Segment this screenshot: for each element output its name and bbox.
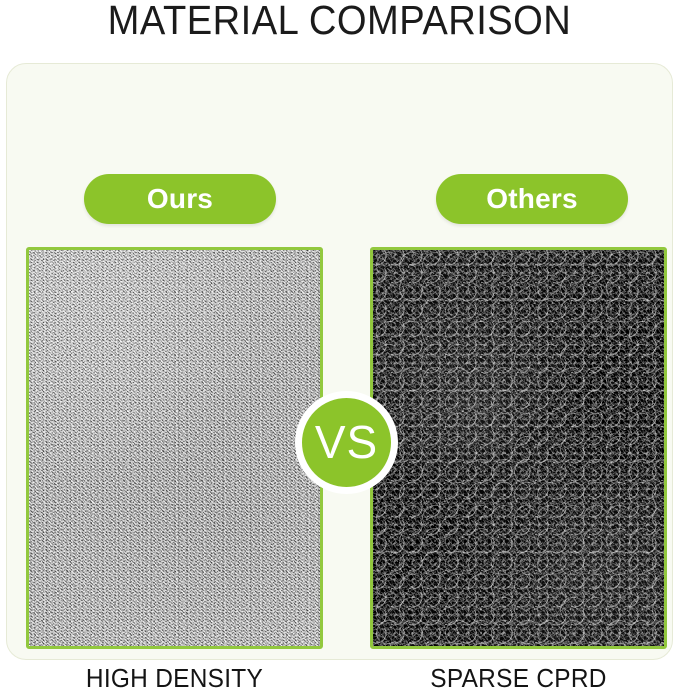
badge-ours-label: Ours	[147, 183, 213, 215]
caption-sparse-cprd: SPARSE CPRD	[379, 662, 658, 694]
sparse-fiber-texture	[373, 250, 664, 646]
caption-high-density: HIGH DENSITY	[35, 662, 314, 694]
vs-badge-label: VS	[315, 419, 378, 465]
badge-others: Others	[436, 174, 628, 224]
comparison-card: Ours Others VS HIGH DENSITY SPARSE CPRD	[6, 63, 673, 660]
dense-gray-felt-swatch	[26, 247, 323, 649]
page-title: MATERIAL COMPARISON	[24, 0, 655, 42]
dense-fiber-texture	[29, 250, 320, 646]
vs-badge: VS	[295, 391, 398, 494]
badge-ours: Ours	[84, 174, 276, 224]
sparse-black-mesh-swatch	[370, 247, 667, 649]
material-comparison-infographic: MATERIAL COMPARISON Ours Others VS HIGH …	[0, 0, 679, 665]
badge-others-label: Others	[486, 183, 577, 215]
